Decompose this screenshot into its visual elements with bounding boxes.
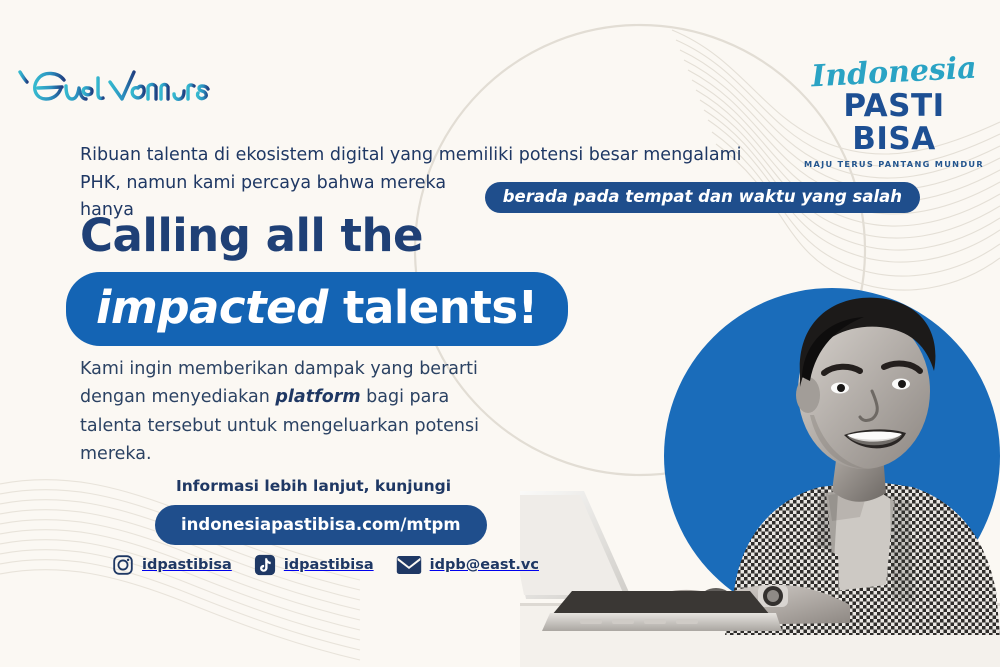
instagram-handle: idpastibisa [142, 557, 232, 573]
social-links: idpastibisa idpastibisa idpb@east.vc [112, 554, 551, 576]
ipb-script-text: Indonesia [803, 53, 984, 92]
body-copy: Kami ingin memberikan dampak yang berart… [80, 355, 480, 468]
headline-impacted: impacted [96, 281, 328, 334]
cta-label: Informasi lebih lanjut, kunjungi [176, 477, 451, 495]
intro-highlight-pill: berada pada tempat dan waktu yang salah [485, 182, 920, 213]
social-email[interactable]: idpb@east.vc [396, 554, 539, 576]
social-instagram[interactable]: idpastibisa [112, 554, 232, 576]
social-tiktok[interactable]: idpastibisa [254, 554, 374, 576]
headline-talents: talents! [343, 281, 538, 334]
email-handle: idpb@east.vc [430, 557, 539, 573]
headline-line-1: Calling all the [80, 209, 423, 262]
east-ventures-logo [14, 58, 214, 114]
headline-pill: impacted talents! [66, 272, 568, 346]
poster-canvas: Indonesia PASTI BISA MAJU TERUS PANTANG … [0, 0, 1000, 667]
photo-man-with-laptop [520, 255, 1000, 667]
laptop-keyboard [552, 591, 770, 615]
instagram-icon [112, 554, 134, 576]
tiktok-icon [254, 554, 276, 576]
intro-line-1: Ribuan talenta di ekosistem digital yang… [80, 142, 920, 170]
body-emphasis: platform [275, 387, 360, 407]
email-icon [396, 554, 422, 576]
tiktok-handle: idpastibisa [284, 557, 374, 573]
cta-website-button[interactable]: indonesiapastibisa.com/mtpm [155, 505, 487, 545]
